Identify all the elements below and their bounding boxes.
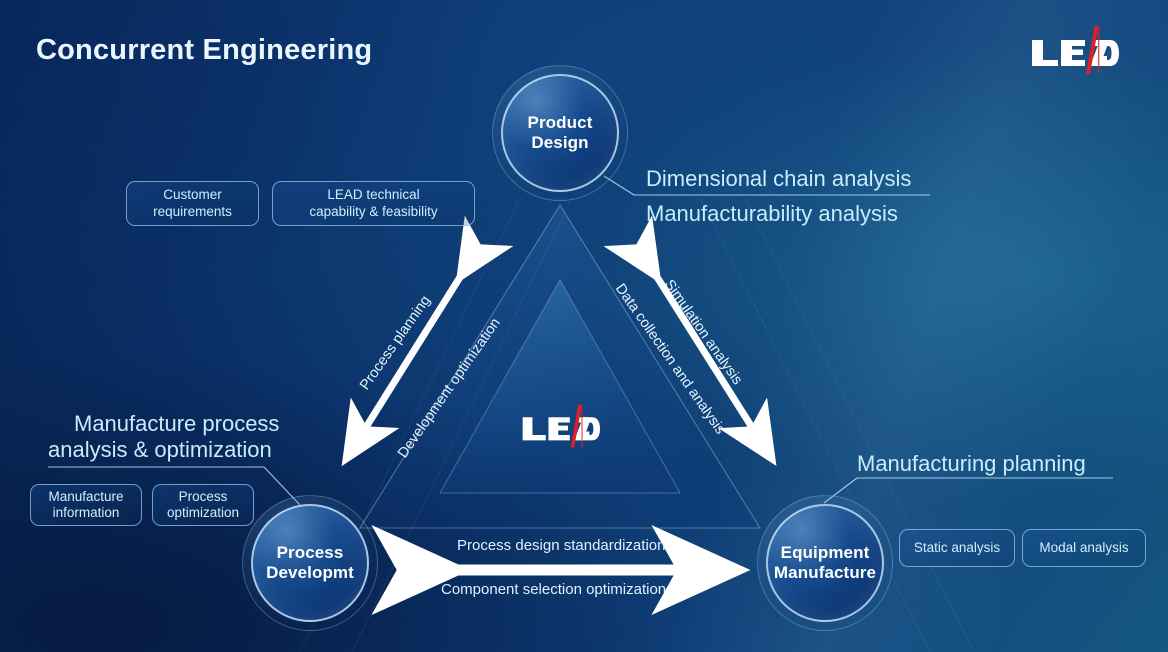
pill-manufacture-information[interactable]: Manufacture information	[30, 484, 142, 526]
node-label: Process Developmt	[266, 543, 354, 583]
pill-line1: Process	[167, 489, 239, 505]
pill-line1: Customer	[153, 187, 232, 203]
node-label-line2: Design	[528, 133, 593, 153]
arrow-label-component-selection-optimization: Component selection optimization	[441, 581, 666, 598]
pill-text: Process optimization	[167, 489, 239, 522]
callout-dimensional-chain-analysis: Dimensional chain analysis	[646, 166, 911, 192]
pill-label: Modal analysis	[1039, 540, 1128, 556]
lead-logo	[1028, 24, 1120, 83]
node-equipment-manufacture[interactable]: Equipment Manufacture	[766, 504, 884, 622]
pill-line1: Manufacture	[48, 489, 123, 505]
node-label-line2: Manufacture	[774, 563, 876, 583]
pill-text: LEAD technical capability & feasibility	[309, 187, 437, 220]
lead-logo-center	[519, 403, 601, 456]
node-process-development[interactable]: Process Developmt	[251, 504, 369, 622]
node-label-line1: Product	[528, 113, 593, 133]
lead-logo-center-svg	[519, 403, 601, 451]
callout-manufacturing-planning: Manufacturing planning	[857, 451, 1086, 477]
pill-static-analysis[interactable]: Static analysis	[899, 529, 1015, 567]
node-product-design[interactable]: Product Design	[501, 74, 619, 192]
pill-line2: optimization	[167, 505, 239, 521]
pill-label: Static analysis	[914, 540, 1000, 556]
pill-lead-technical-capability[interactable]: LEAD technical capability & feasibility	[272, 181, 475, 226]
node-label: Equipment Manufacture	[774, 543, 876, 583]
callout-manufacturability-analysis: Manufacturability analysis	[646, 201, 898, 227]
pill-process-optimization[interactable]: Process optimization	[152, 484, 254, 526]
node-label-line1: Equipment	[774, 543, 876, 563]
pill-line2: requirements	[153, 204, 232, 220]
lead-logo-svg	[1028, 24, 1120, 78]
pill-text: Manufacture information	[48, 489, 123, 522]
pill-modal-analysis[interactable]: Modal analysis	[1022, 529, 1146, 567]
node-label-line1: Process	[266, 543, 354, 563]
callout-manufacture-process-line2: analysis & optimization	[48, 437, 272, 463]
connector-right	[824, 478, 1113, 503]
callout-manufacture-process-line1: Manufacture process	[74, 411, 279, 437]
node-label: Product Design	[528, 113, 593, 153]
pill-text: Customer requirements	[153, 187, 232, 220]
pill-line1: LEAD technical	[309, 187, 437, 203]
node-label-line2: Developmt	[266, 563, 354, 583]
pill-customer-requirements[interactable]: Customer requirements	[126, 181, 259, 226]
slide-canvas: Concurrent Engineering	[0, 0, 1168, 652]
pill-line2: information	[48, 505, 123, 521]
pill-line2: capability & feasibility	[309, 204, 437, 220]
page-title: Concurrent Engineering	[36, 34, 372, 67]
arrow-label-process-design-standardization: Process design standardization	[457, 537, 665, 554]
